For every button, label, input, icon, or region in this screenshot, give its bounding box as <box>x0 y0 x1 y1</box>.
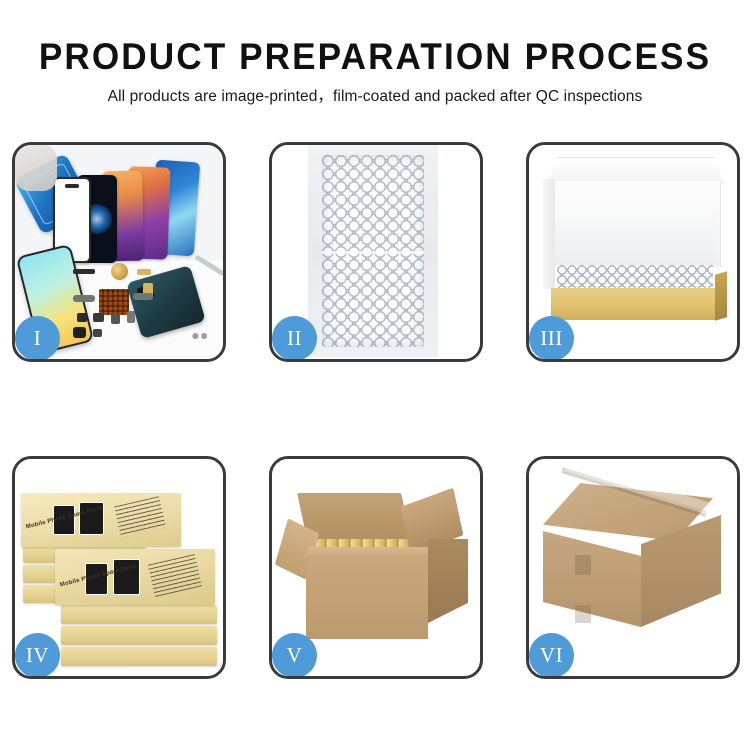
carton-front-panel <box>306 555 428 639</box>
screws-part <box>191 331 213 341</box>
speaker-coil-part <box>111 263 128 280</box>
box-print-text-lines <box>114 496 166 538</box>
process-step-panel-1[interactable]: I <box>12 142 226 362</box>
process-step-grid: I II III <box>12 142 740 679</box>
repair-tool <box>194 254 223 276</box>
step-badge-2: II <box>272 316 317 361</box>
box-print-text-lines <box>148 554 202 598</box>
process-step-panel-5[interactable]: V <box>269 456 483 679</box>
retail-box-stack: Mobile Phone Spare Parts Mobile Phone Sp… <box>21 477 221 663</box>
foam-padding <box>555 203 715 265</box>
connector-part-a <box>137 269 151 275</box>
button-part-a <box>111 313 120 324</box>
retail-box-r1 <box>61 605 217 624</box>
page-title: PRODUCT PREPARATION PROCESS <box>19 0 732 78</box>
flex-cable-part-b <box>133 293 153 300</box>
step-badge-3: III <box>529 316 574 361</box>
process-step-panel-6[interactable]: VI <box>526 456 740 679</box>
chip-array-part <box>99 289 129 315</box>
carton-edge-mark-bottom <box>575 605 591 623</box>
process-step-panel-3[interactable]: III <box>526 142 740 362</box>
step-badge-4: IV <box>15 633 60 678</box>
inner-box-left-flap <box>543 179 555 289</box>
inner-box-side-panel <box>715 271 727 320</box>
bubble-wrap-pouch <box>308 145 438 357</box>
ic-chip-part-b <box>93 313 104 322</box>
carton-edge-mark-top <box>575 555 591 575</box>
vibrator-part <box>93 329 102 337</box>
step-badge-1: I <box>15 316 60 361</box>
pouch-seam <box>322 251 424 254</box>
retail-box-printed-top: Mobile Phone Spare Parts <box>21 493 181 547</box>
ic-chip-part-a <box>77 313 87 322</box>
flex-cable-part-a <box>73 295 95 302</box>
page-subtitle: All products are image-printed，film-coat… <box>0 78 750 107</box>
packed-bubble-items <box>557 265 713 289</box>
retail-box-printed-middle: Mobile Phone Spare Parts <box>55 549 215 605</box>
retail-box-r2 <box>61 626 217 645</box>
inner-box-lid <box>547 157 725 184</box>
button-part-b <box>127 311 135 323</box>
technician-hand <box>15 145 57 191</box>
process-step-panel-2[interactable]: II <box>269 142 483 362</box>
page-header: PRODUCT PREPARATION PROCESS All products… <box>0 0 750 107</box>
camera-module-part <box>73 327 86 338</box>
process-step-panel-4[interactable]: Mobile Phone Spare Parts Mobile Phone Sp… <box>12 456 226 679</box>
step-badge-6: VI <box>529 633 574 678</box>
earpiece-part <box>73 269 95 274</box>
retail-box-r3 <box>61 647 217 666</box>
inner-box-front-panel <box>551 288 719 320</box>
step-badge-5: V <box>272 633 317 678</box>
